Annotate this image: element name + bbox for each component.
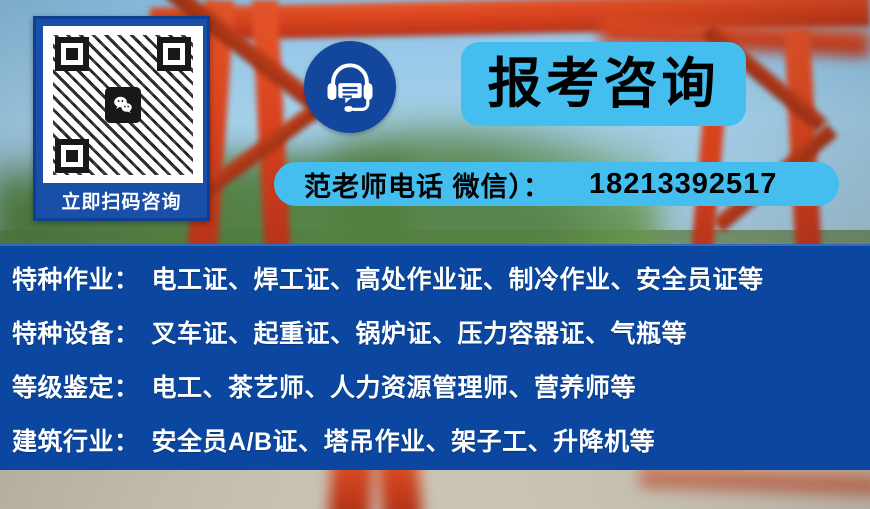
service-category-label: 特种设备： bbox=[12, 314, 140, 350]
service-row: 建筑行业： 安全员A/B证、塔吊作业、架子工、升降机等 bbox=[0, 422, 870, 470]
service-row: 特种设备： 叉车证、起重证、锅炉证、压力容器证、气瓶等 bbox=[0, 314, 870, 362]
title-badge-label: 报考咨询 bbox=[488, 57, 720, 111]
qr-card-caption: 立即扫码咨询 bbox=[36, 187, 207, 214]
customer-service-button[interactable] bbox=[304, 41, 396, 133]
qr-code-card[interactable]: 立即扫码咨询 bbox=[33, 16, 210, 221]
contact-phone-number[interactable]: 18213392517 bbox=[589, 168, 777, 201]
headset-support-icon bbox=[320, 55, 380, 120]
qr-code-frame bbox=[43, 26, 203, 183]
qr-finder-bottom-left-icon bbox=[55, 139, 89, 173]
title-badge: 报考咨询 bbox=[461, 42, 746, 126]
service-row: 等级鉴定： 电工、茶艺师、人力资源管理师、营养师等 bbox=[0, 368, 870, 416]
service-category-items: 电工、茶艺师、人力资源管理师、营养师等 bbox=[152, 368, 637, 404]
qr-finder-top-right-icon bbox=[157, 37, 191, 71]
service-category-items: 叉车证、起重证、锅炉证、压力容器证、气瓶等 bbox=[152, 314, 688, 350]
contact-label: 范老师电话 微信）： bbox=[304, 165, 551, 204]
service-category-items: 电工证、焊工证、高处作业证、制冷作业、安全员证等 bbox=[152, 260, 764, 296]
promo-banner: 立即扫码咨询 报考咨询 范老师电话 微信） bbox=[0, 0, 870, 509]
qr-finder-top-left-icon bbox=[55, 37, 89, 71]
service-category-label: 等级鉴定： bbox=[12, 368, 140, 404]
qr-code-icon bbox=[53, 35, 193, 175]
wechat-icon bbox=[105, 87, 141, 123]
contact-bar[interactable]: 范老师电话 微信）： 18213392517 bbox=[274, 162, 839, 206]
service-category-items: 安全员A/B证、塔吊作业、架子工、升降机等 bbox=[152, 422, 656, 458]
service-category-label: 特种作业： bbox=[12, 260, 140, 296]
service-category-label: 建筑行业： bbox=[12, 422, 140, 458]
service-row: 特种作业： 电工证、焊工证、高处作业证、制冷作业、安全员证等 bbox=[0, 260, 870, 308]
service-list-panel: 特种作业： 电工证、焊工证、高处作业证、制冷作业、安全员证等 特种设备： 叉车证… bbox=[0, 244, 870, 470]
